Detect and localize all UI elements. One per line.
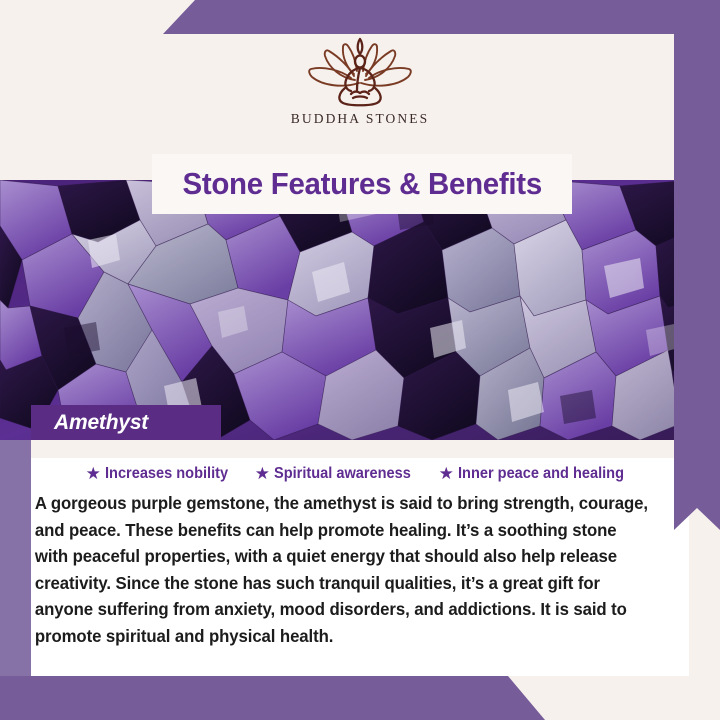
brand-logo: BUDDHA STONES [0,36,720,127]
header: BUDDHA STONES Stone Features & Benefits [0,34,720,180]
benefit-label: Spiritual awareness [274,465,411,483]
content-top-strip [31,440,689,458]
stone-description: A gorgeous purple gemstone, the amethyst… [31,485,666,649]
lotus-meditation-icon [285,36,435,110]
star-icon: ★ [86,465,101,482]
infographic-page: BUDDHA STONES Stone Features & Benefits [0,0,720,720]
page-title-plate: Stone Features & Benefits [152,154,572,214]
benefit-item: ★ Spiritual awareness [255,465,420,483]
stone-name-banner: Amethyst [31,405,221,440]
brand-name: BUDDHA STONES [291,111,429,127]
star-icon: ★ [255,465,270,482]
star-icon: ★ [439,465,454,482]
stone-name: Amethyst [31,411,148,435]
frame-band-bottom [0,676,720,720]
benefit-item: ★ Inner peace and healing [439,465,635,483]
frame-band-right [674,0,720,530]
hero-image [0,180,720,440]
benefit-label: Inner peace and healing [458,465,624,483]
benefit-item: ★ Increases nobility [86,465,236,483]
benefit-label: Increases nobility [105,465,228,483]
frame-band-top-right [0,0,720,34]
content-card: ★ Increases nobility ★ Spiritual awarene… [31,440,689,676]
page-title: Stone Features & Benefits [182,166,541,202]
amethyst-crystal-cluster-photo [0,180,720,440]
benefits-list: ★ Increases nobility ★ Spiritual awarene… [31,458,689,485]
